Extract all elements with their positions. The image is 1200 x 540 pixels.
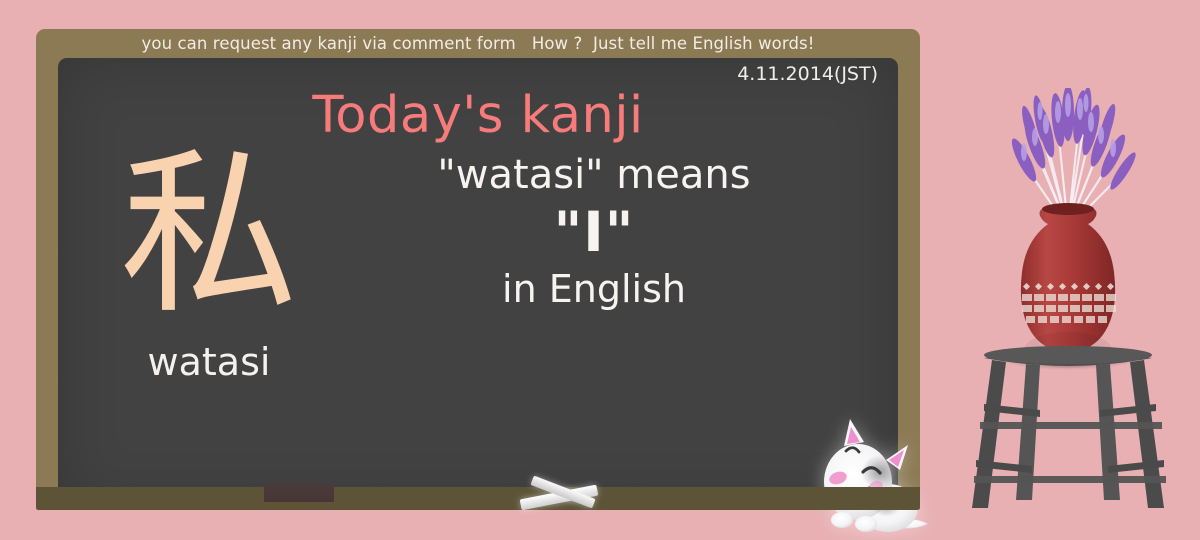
meaning-word: "I" — [334, 198, 854, 267]
cat-mascot-icon — [816, 416, 934, 540]
blackboard-frame: you can request any kanji via comment fo… — [36, 29, 920, 510]
blackboard-surface: 4.11.2014(JST) Today's kanji 私 watasi "w… — [58, 58, 898, 510]
meaning-line-2: in English — [334, 267, 854, 313]
chalk-ledge — [36, 487, 920, 510]
meaning-block: "watasi" means "I" in English — [334, 152, 854, 312]
meaning-line-1: "watasi" means — [334, 152, 854, 198]
vase — [1021, 203, 1116, 368]
board-banner-text: you can request any kanji via comment fo… — [36, 29, 920, 58]
stool-with-vase — [940, 88, 1200, 540]
stool — [972, 346, 1166, 508]
eraser-icon — [264, 484, 334, 502]
kanji-reading-label: watasi — [94, 340, 324, 384]
board-date: 4.11.2014(JST) — [737, 63, 878, 85]
kanji-character: 私 — [94, 146, 324, 324]
